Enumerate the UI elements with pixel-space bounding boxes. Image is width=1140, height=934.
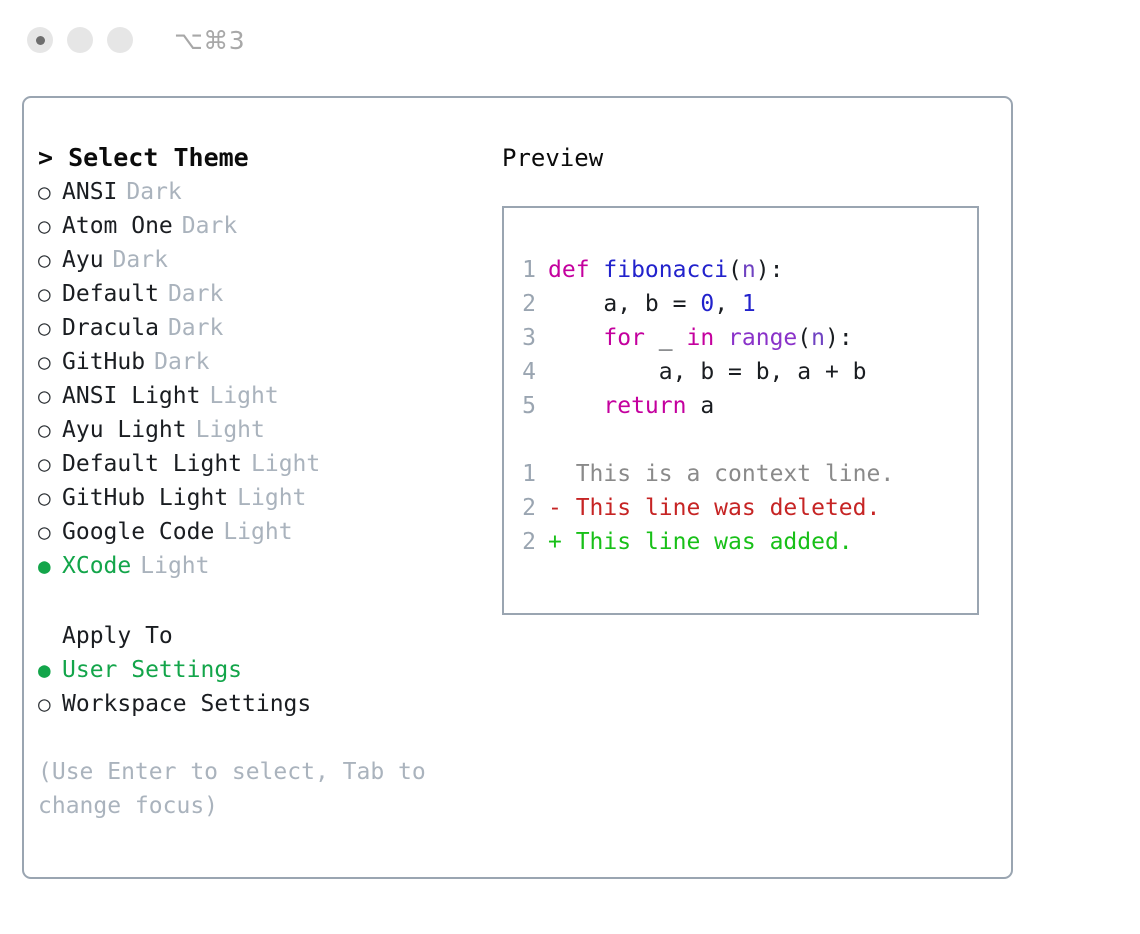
code-token: a, b = b, a + b bbox=[548, 359, 867, 385]
radio-unselected-icon: ○ bbox=[38, 687, 62, 721]
theme-variant-badge: Light bbox=[251, 447, 320, 481]
record-indicator-icon bbox=[36, 36, 45, 45]
theme-name-label: Dracula bbox=[62, 311, 159, 345]
traffic-dot-three-icon[interactable] bbox=[107, 27, 133, 53]
code-line: 3 for _ in range(n): bbox=[514, 321, 867, 355]
apply-to-option-user-settings[interactable]: ●User Settings bbox=[38, 653, 488, 687]
theme-list: ○ANSIDark○Atom OneDark○AyuDark○DefaultDa… bbox=[38, 175, 488, 583]
theme-option-ansi-light[interactable]: ○ANSI LightLight bbox=[38, 379, 488, 413]
code-line-number: 5 bbox=[514, 389, 536, 423]
code-line: 5 return a bbox=[514, 389, 867, 423]
radio-unselected-icon: ○ bbox=[38, 209, 62, 243]
diff-text: This line was added. bbox=[562, 529, 853, 555]
code-token: 1 bbox=[742, 291, 756, 317]
radio-unselected-icon: ○ bbox=[38, 311, 62, 345]
theme-option-google-code[interactable]: ○Google CodeLight bbox=[38, 515, 488, 549]
preview-box: 1def fibonacci(n):2 a, b = 0, 13 for _ i… bbox=[502, 206, 979, 615]
code-token: 0 bbox=[700, 291, 714, 317]
radio-unselected-icon: ○ bbox=[38, 481, 62, 515]
diff-line-add: 2+ This line was added. bbox=[514, 525, 894, 559]
theme-name-label: Atom One bbox=[62, 209, 173, 243]
code-line: 4 a, b = b, a + b bbox=[514, 355, 867, 389]
code-token: _ bbox=[645, 325, 687, 351]
preview-heading: Preview bbox=[502, 141, 992, 175]
code-token: a bbox=[686, 393, 714, 419]
code-token bbox=[548, 393, 603, 419]
diff-text: This line was deleted. bbox=[562, 495, 881, 521]
traffic-dot-two-icon[interactable] bbox=[67, 27, 93, 53]
apply-to-label: User Settings bbox=[62, 653, 242, 687]
code-token: ( bbox=[728, 257, 742, 283]
code-token: n bbox=[811, 325, 825, 351]
code-token: for bbox=[603, 325, 645, 351]
theme-variant-badge: Dark bbox=[113, 243, 168, 277]
code-line-number: 4 bbox=[514, 355, 536, 389]
code-token: fibonacci bbox=[603, 257, 728, 283]
theme-option-default[interactable]: ○DefaultDark bbox=[38, 277, 488, 311]
keyboard-shortcut-label: ⌥⌘3 bbox=[174, 28, 245, 53]
theme-name-label: ANSI Light bbox=[62, 379, 200, 413]
theme-variant-badge: Light bbox=[196, 413, 265, 447]
theme-option-github-light[interactable]: ○GitHub LightLight bbox=[38, 481, 488, 515]
code-token: ): bbox=[825, 325, 853, 351]
code-sample: 1def fibonacci(n):2 a, b = 0, 13 for _ i… bbox=[514, 253, 867, 423]
diff-marker: - bbox=[548, 495, 562, 521]
select-theme-heading: > Select Theme bbox=[38, 141, 488, 175]
diff-line-number: 1 bbox=[514, 457, 536, 491]
radio-unselected-icon: ○ bbox=[38, 345, 62, 379]
titlebar: ⌥⌘3 bbox=[0, 0, 1140, 80]
code-token bbox=[548, 325, 603, 351]
theme-name-label: GitHub Light bbox=[62, 481, 228, 515]
theme-name-label: Ayu Light bbox=[62, 413, 187, 447]
diff-text: This is a context line. bbox=[562, 461, 894, 487]
theme-variant-badge: Dark bbox=[154, 345, 209, 379]
radio-selected-icon: ● bbox=[38, 549, 62, 583]
theme-option-ayu-light[interactable]: ○Ayu LightLight bbox=[38, 413, 488, 447]
code-token: ): bbox=[756, 257, 784, 283]
theme-name-label: GitHub bbox=[62, 345, 145, 379]
apply-to-heading: Apply To bbox=[38, 619, 488, 653]
keyboard-hint-text: (Use Enter to select, Tab to change focu… bbox=[38, 755, 458, 823]
theme-name-label: Google Code bbox=[62, 515, 214, 549]
theme-option-ansi[interactable]: ○ANSIDark bbox=[38, 175, 488, 209]
code-token: , bbox=[714, 291, 742, 317]
diff-marker: + bbox=[548, 529, 562, 555]
theme-list-column: > Select Theme ○ANSIDark○Atom OneDark○Ay… bbox=[38, 141, 488, 823]
radio-selected-icon: ● bbox=[38, 653, 62, 687]
code-token: in bbox=[686, 325, 714, 351]
theme-variant-badge: Light bbox=[209, 379, 278, 413]
theme-option-dracula[interactable]: ○DraculaDark bbox=[38, 311, 488, 345]
radio-unselected-icon: ○ bbox=[38, 515, 62, 549]
theme-variant-badge: Light bbox=[140, 549, 209, 583]
code-token bbox=[714, 325, 728, 351]
theme-variant-badge: Dark bbox=[168, 277, 223, 311]
theme-option-github[interactable]: ○GitHubDark bbox=[38, 345, 488, 379]
apply-to-option-workspace-settings[interactable]: ○Workspace Settings bbox=[38, 687, 488, 721]
theme-name-label: XCode bbox=[62, 549, 131, 583]
radio-unselected-icon: ○ bbox=[38, 175, 62, 209]
theme-option-xcode[interactable]: ●XCodeLight bbox=[38, 549, 488, 583]
spacer bbox=[38, 583, 488, 619]
diff-line-del: 2- This line was deleted. bbox=[514, 491, 894, 525]
theme-variant-badge: Dark bbox=[182, 209, 237, 243]
radio-unselected-icon: ○ bbox=[38, 277, 62, 311]
traffic-dot-record-icon[interactable] bbox=[27, 27, 53, 53]
diff-marker bbox=[548, 461, 562, 487]
theme-option-default-light[interactable]: ○Default LightLight bbox=[38, 447, 488, 481]
theme-name-label: Default bbox=[62, 277, 159, 311]
code-line: 2 a, b = 0, 1 bbox=[514, 287, 867, 321]
code-token: def bbox=[548, 257, 603, 283]
window-controls bbox=[27, 27, 133, 53]
diff-line-number: 2 bbox=[514, 491, 536, 525]
theme-variant-badge: Light bbox=[223, 515, 292, 549]
theme-selector-panel: > Select Theme ○ANSIDark○Atom OneDark○Ay… bbox=[22, 96, 1013, 879]
preview-column: Preview 1def fibonacci(n):2 a, b = 0, 13… bbox=[502, 141, 992, 615]
theme-variant-badge: Dark bbox=[168, 311, 223, 345]
diff-sample: 1 This is a context line.2- This line wa… bbox=[514, 457, 894, 559]
radio-unselected-icon: ○ bbox=[38, 243, 62, 277]
theme-option-ayu[interactable]: ○AyuDark bbox=[38, 243, 488, 277]
code-line-number: 3 bbox=[514, 321, 536, 355]
theme-name-label: Default Light bbox=[62, 447, 242, 481]
apply-to-list: ●User Settings○Workspace Settings bbox=[38, 653, 488, 721]
code-token: ( bbox=[797, 325, 811, 351]
theme-variant-badge: Dark bbox=[126, 175, 181, 209]
code-line: 1def fibonacci(n): bbox=[514, 253, 867, 287]
radio-unselected-icon: ○ bbox=[38, 379, 62, 413]
apply-to-label: Workspace Settings bbox=[62, 687, 311, 721]
theme-option-atom-one[interactable]: ○Atom OneDark bbox=[38, 209, 488, 243]
panel-body: > Select Theme ○ANSIDark○Atom OneDark○Ay… bbox=[24, 98, 1011, 877]
radio-unselected-icon: ○ bbox=[38, 447, 62, 481]
code-token: range bbox=[728, 325, 797, 351]
theme-name-label: Ayu bbox=[62, 243, 104, 277]
code-token: a, b = bbox=[548, 291, 700, 317]
code-line-number: 1 bbox=[514, 253, 536, 287]
diff-line-number: 2 bbox=[514, 525, 536, 559]
diff-line-ctx: 1 This is a context line. bbox=[514, 457, 894, 491]
code-token: n bbox=[742, 257, 756, 283]
radio-unselected-icon: ○ bbox=[38, 413, 62, 447]
theme-variant-badge: Light bbox=[237, 481, 306, 515]
theme-name-label: ANSI bbox=[62, 175, 117, 209]
code-token: return bbox=[603, 393, 686, 419]
code-line-number: 2 bbox=[514, 287, 536, 321]
